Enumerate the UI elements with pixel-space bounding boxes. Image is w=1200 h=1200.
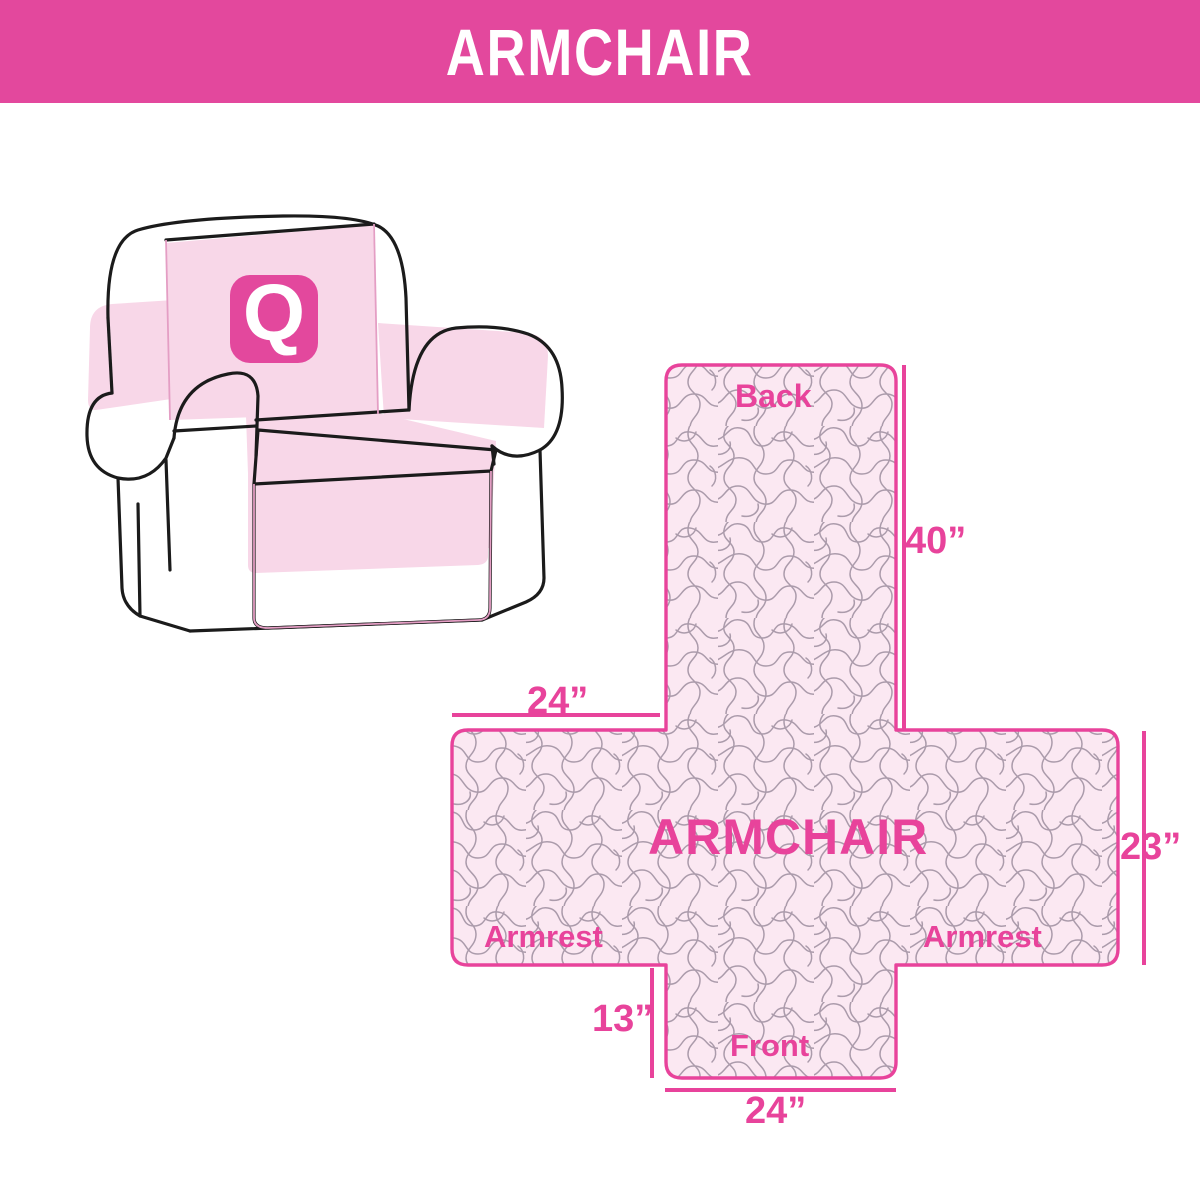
page-title: ARMCHAIR — [446, 19, 754, 85]
page-root: ARMCHAIR — [0, 0, 1200, 1200]
panel-label-armrest-left: Armrest — [484, 921, 603, 952]
brand-logo: Q — [230, 268, 318, 363]
panel-label-front: Front — [730, 1030, 809, 1061]
dimension-value-armrest-width: 24” — [527, 682, 588, 720]
panel-label-armrest-right: Armrest — [923, 921, 1042, 952]
flat-pattern-diagram — [430, 330, 1200, 1130]
dimension-value-back-height: 40” — [905, 522, 966, 560]
panel-label-center: ARMCHAIR — [648, 812, 928, 862]
panel-label-back: Back — [735, 380, 812, 412]
dimension-value-front-width: 24” — [745, 1092, 806, 1130]
logo-letter-q: Q — [243, 268, 305, 357]
dimension-value-front-height: 13” — [592, 1000, 653, 1038]
dimension-value-seat-depth: 23” — [1120, 828, 1181, 866]
header-banner: ARMCHAIR — [0, 0, 1200, 103]
